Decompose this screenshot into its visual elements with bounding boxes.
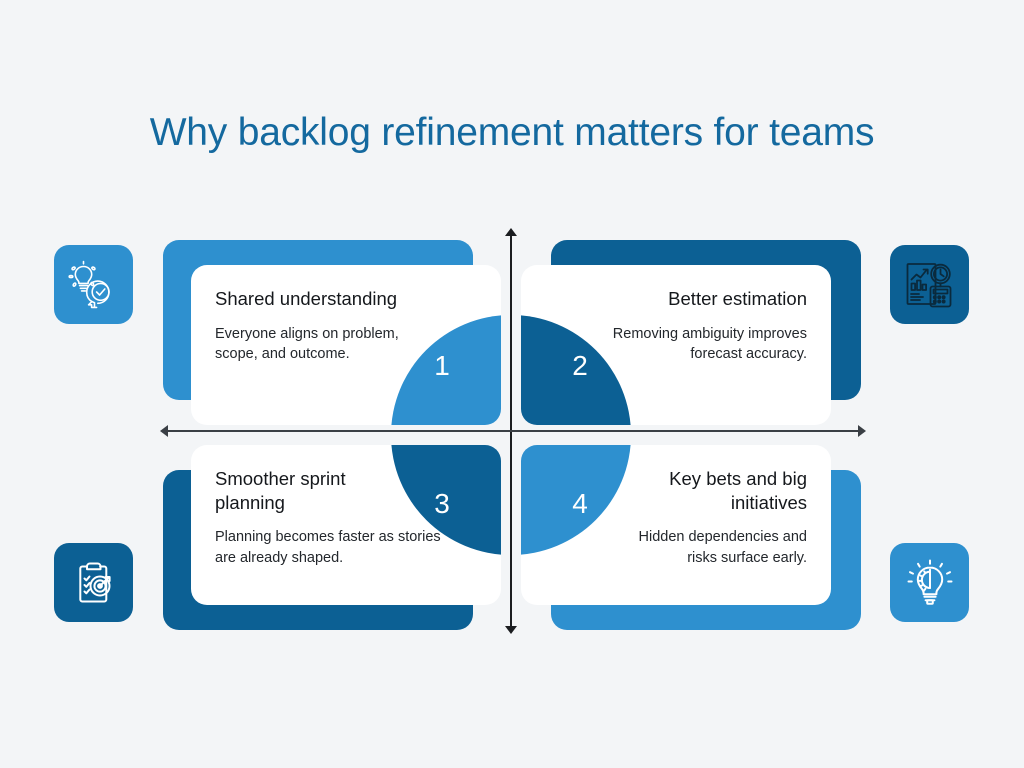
horizontal-axis-line [166, 430, 860, 432]
icon-tile-bottom-left [54, 543, 133, 622]
quadrant-3-body: Planning becomes faster as stories are a… [215, 527, 460, 568]
chart-clock-calculator-icon [905, 260, 955, 310]
arrow-down-icon [505, 626, 517, 634]
clipboard-target-icon [69, 558, 119, 608]
quadrant-1[interactable]: Shared understanding Everyone aligns on … [163, 240, 503, 425]
quadrant-4-title: Key bets and big initiatives [592, 467, 807, 514]
lightbulb-head-check-icon [67, 258, 121, 312]
quadrant-1-card[interactable]: Shared understanding Everyone aligns on … [191, 265, 501, 425]
quadrant-matrix: Shared understanding Everyone aligns on … [163, 240, 861, 630]
arrow-right-icon [858, 425, 866, 437]
quadrant-2-title: Better estimation [592, 287, 807, 311]
infographic-canvas: Why backlog refinement matters for teams… [0, 0, 1024, 768]
quadrant-4-card[interactable]: Key bets and big initiatives Hidden depe… [521, 445, 831, 605]
arrow-up-icon [505, 228, 517, 236]
quadrant-3-card[interactable]: Smoother sprint planning Planning become… [191, 445, 501, 605]
quadrant-3-title: Smoother sprint planning [215, 467, 395, 514]
icon-tile-bottom-right [890, 543, 969, 622]
quadrant-4[interactable]: Key bets and big initiatives Hidden depe… [521, 445, 861, 630]
icon-tile-top-left [54, 245, 133, 324]
arrow-left-icon [160, 425, 168, 437]
page-title: Why backlog refinement matters for teams [0, 111, 1024, 155]
quadrant-2-body: Removing ambiguity improves forecast acc… [592, 324, 807, 365]
quadrant-4-body: Hidden dependencies and risks surface ea… [607, 527, 807, 568]
quadrant-1-body: Everyone aligns on problem, scope, and o… [215, 324, 430, 365]
quadrant-2-card[interactable]: Better estimation Removing ambiguity imp… [521, 265, 831, 425]
quadrant-1-title: Shared understanding [215, 287, 430, 311]
quadrant-3[interactable]: Smoother sprint planning Planning become… [163, 445, 503, 630]
lightbulb-gear-icon [905, 558, 955, 608]
icon-tile-top-right [890, 245, 969, 324]
quadrant-2[interactable]: Better estimation Removing ambiguity imp… [521, 240, 861, 425]
